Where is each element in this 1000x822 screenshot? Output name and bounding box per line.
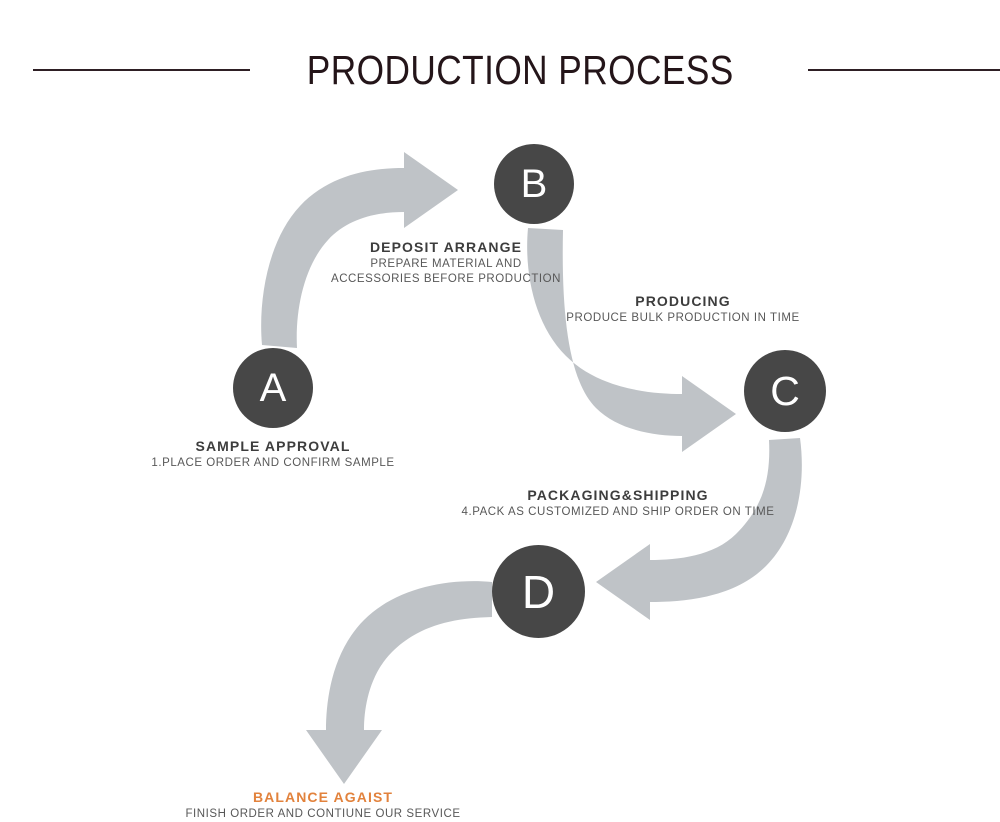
connector-c-to-d — [596, 438, 802, 620]
node-subtitle-c-line-1: PRODUCE BULK PRODUCTION IN TIME — [513, 311, 853, 327]
page-title: PRODUCTION PROCESS — [306, 47, 733, 94]
node-subtitle-e-line-1: FINISH ORDER AND CONTIUNE OUR SERVICE — [143, 807, 503, 822]
node-badge-a[interactable]: A — [233, 348, 313, 428]
node-subtitle-d-line-1: 4.PACK AS CUSTOMIZED AND SHIP ORDER ON T… — [378, 505, 858, 521]
node-label-producing: PRODUCING PRODUCE BULK PRODUCTION IN TIM… — [513, 292, 853, 326]
node-badge-c[interactable]: C — [744, 350, 826, 432]
diagram-canvas: PRODUCTION PROCESS A B C D SAMPLE APPROV… — [0, 0, 1000, 818]
node-label-sample-approval: SAMPLE APPROVAL 1.PLACE ORDER AND CONFIR… — [113, 437, 433, 471]
node-label-balance-agaist: BALANCE AGAIST FINISH ORDER AND CONTIUNE… — [143, 788, 503, 822]
connector-d-to-e — [306, 581, 492, 784]
node-subtitle-a-line-1: 1.PLACE ORDER AND CONFIRM SAMPLE — [113, 456, 433, 472]
title-rule-left — [33, 69, 250, 71]
title-rule-right — [808, 69, 1000, 71]
node-badge-b[interactable]: B — [494, 144, 574, 224]
node-subtitle-b-line-1: PREPARE MATERIAL AND — [266, 257, 626, 273]
connector-arrows-layer — [0, 0, 1000, 818]
node-title-d: PACKAGING&SHIPPING — [378, 486, 858, 505]
node-label-deposit-arrange: DEPOSIT ARRANGE PREPARE MATERIAL AND ACC… — [266, 238, 626, 288]
page-title-row: PRODUCTION PROCESS — [0, 40, 1000, 100]
node-badge-d[interactable]: D — [492, 545, 585, 638]
node-label-packaging-shipping: PACKAGING&SHIPPING 4.PACK AS CUSTOMIZED … — [378, 486, 858, 520]
node-title-a: SAMPLE APPROVAL — [113, 437, 433, 456]
node-subtitle-b-line-2: ACCESSORIES BEFORE PRODUCTION — [266, 272, 626, 288]
node-title-c: PRODUCING — [513, 292, 853, 311]
node-title-b: DEPOSIT ARRANGE — [266, 238, 626, 257]
node-title-e: BALANCE AGAIST — [143, 788, 503, 807]
